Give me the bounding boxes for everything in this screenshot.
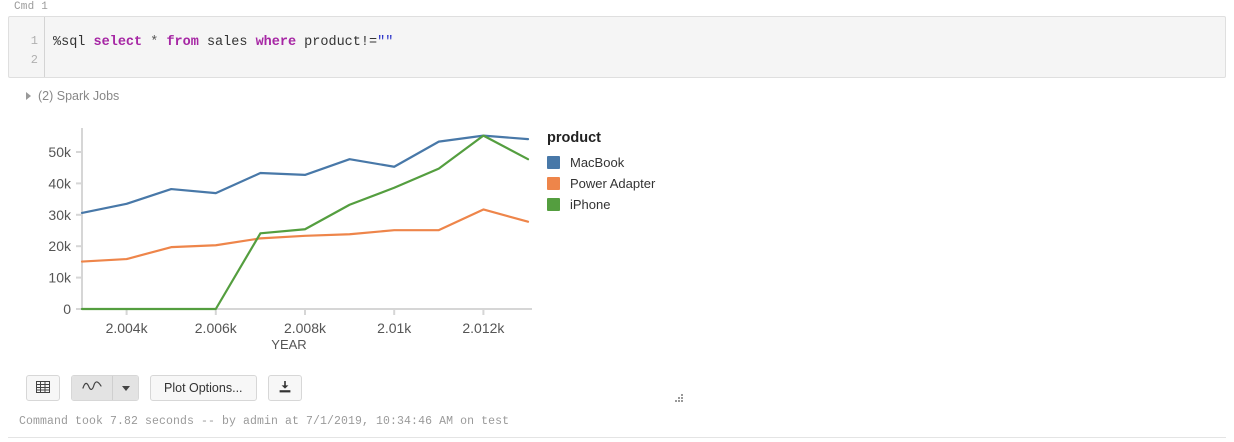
spark-jobs-label: (2) Spark Jobs — [38, 89, 119, 103]
resize-grip-icon[interactable] — [672, 392, 684, 404]
code-token-plain-6: product!= — [296, 35, 377, 50]
series-line-macbook — [82, 136, 528, 213]
code-token-string-7: "" — [377, 35, 393, 50]
legend-item-label: Power Adapter — [570, 176, 655, 191]
y-tick-label: 40k — [48, 175, 72, 191]
legend-item[interactable]: MacBook — [547, 155, 655, 170]
y-tick-label: 30k — [48, 207, 72, 223]
x-tick-label: 2.006k — [195, 320, 238, 336]
download-icon — [278, 380, 292, 397]
x-tick-label: 2.004k — [106, 320, 149, 336]
line-chart-icon — [82, 379, 102, 397]
cell-bottom-divider — [8, 437, 1226, 438]
table-view-button[interactable] — [26, 375, 60, 401]
code-token-plain-4: sales — [199, 35, 256, 50]
legend-item[interactable]: Power Adapter — [547, 176, 655, 191]
chart-view-button[interactable] — [72, 376, 112, 400]
y-tick-label: 20k — [48, 238, 72, 254]
plot-options-button[interactable]: Plot Options... — [150, 375, 257, 401]
code-token-keyword-3: from — [166, 35, 198, 50]
table-grid-icon — [36, 380, 50, 397]
x-tick-label: 2.01k — [377, 320, 412, 336]
y-tick-label: 10k — [48, 270, 72, 286]
chart-type-split-button — [71, 375, 139, 401]
chevron-down-icon — [122, 386, 130, 391]
code-token-keyword-1: select — [94, 35, 143, 50]
y-tick-label: 0 — [63, 301, 71, 317]
legend-title: product — [547, 130, 655, 146]
code-token-keyword-5: where — [256, 35, 297, 50]
editor-gutter: 1 2 — [9, 17, 45, 77]
legend-item[interactable]: iPhone — [547, 197, 655, 212]
legend-swatch-icon — [547, 198, 560, 211]
spark-jobs-toggle[interactable]: (2) Spark Jobs — [26, 89, 119, 103]
code-editor[interactable]: 1 2 %sql select * from sales where produ… — [8, 16, 1226, 78]
download-button[interactable] — [268, 375, 302, 401]
chart-toolbar: Plot Options... — [26, 375, 302, 401]
cmd-label: Cmd 1 — [14, 1, 48, 13]
chart-type-dropdown-button[interactable] — [112, 376, 138, 400]
legend-item-label: MacBook — [570, 155, 624, 170]
code-token-plain-0: %sql — [53, 35, 94, 50]
legend-swatch-icon — [547, 177, 560, 190]
chart-container: 010k20k30k40k50k2.004k2.006k2.008k2.01k2… — [0, 112, 700, 362]
series-line-power-adapter — [82, 209, 528, 261]
chart-legend: product MacBookPower AdapteriPhone — [547, 130, 655, 218]
code-line-1[interactable]: %sql select * from sales where product!=… — [53, 34, 393, 52]
series-line-iphone — [82, 136, 528, 309]
status-bar: Command took 7.82 seconds -- by admin at… — [19, 415, 509, 428]
x-tick-label: 2.012k — [462, 320, 505, 336]
y-tick-label: 50k — [48, 144, 72, 160]
line-number-1: 1 — [31, 34, 38, 48]
x-tick-label: 2.008k — [284, 320, 327, 336]
legend-item-label: iPhone — [570, 197, 610, 212]
notebook-cell-output: Cmd 1 1 2 %sql select * from sales where… — [0, 0, 1234, 442]
legend-swatch-icon — [547, 156, 560, 169]
code-token-operator-2: * — [142, 35, 166, 50]
triangle-right-icon — [26, 92, 31, 100]
line-number-2: 2 — [31, 53, 38, 67]
x-axis-label: YEAR — [271, 337, 306, 352]
